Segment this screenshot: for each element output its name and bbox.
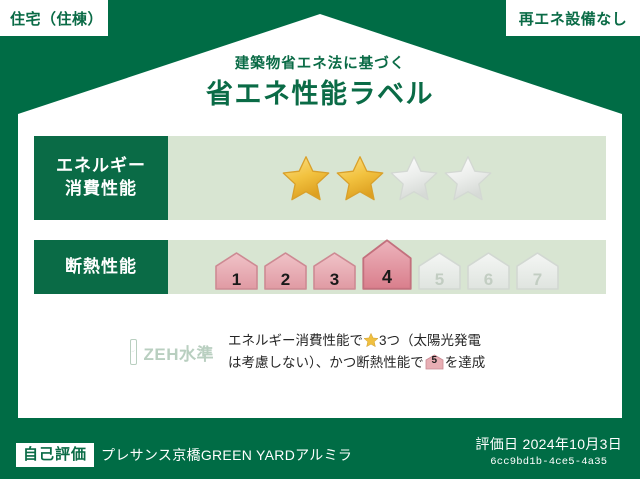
footer-left: 自己評価 プレサンス京橋GREEN YARDアルミラ — [16, 443, 352, 467]
insulation-performance-row: 断熱性能 1234567 — [34, 240, 606, 294]
star-filled-icon — [334, 152, 386, 204]
desc-part3: を達成 — [445, 355, 486, 370]
self-evaluation-badge: 自己評価 — [16, 443, 94, 467]
energy-consumption-header-line1: エネルギー — [56, 155, 146, 178]
energy-performance-label: 住宅（住棟） 再エネ設備なし 建築物省エネ法に基づく 省エネ性能ラベル エネルギ… — [0, 0, 640, 479]
insulation-badge-1: 1 — [214, 251, 259, 291]
energy-consumption-header-line2: 消費性能 — [65, 178, 137, 201]
insulation-performance-rating: 1234567 — [168, 240, 606, 294]
desc-part2: は考慮しない）、かつ断熱性能で — [228, 355, 424, 370]
evaluation-date: 評価日 2024年10月3日 — [475, 434, 622, 454]
energy-consumption-rating — [168, 136, 606, 220]
label-title-block: 建築物省エネ法に基づく 省エネ性能ラベル — [0, 56, 640, 112]
tag-building-type: 住宅（住棟） — [0, 0, 108, 36]
insulation-performance-header-line1: 断熱性能 — [65, 256, 137, 279]
insulation-badge-number: 4 — [361, 268, 413, 286]
star-empty-icon — [442, 152, 494, 204]
desc-star-count: 3つ（太陽光発電 — [379, 333, 481, 348]
page-title: 省エネ性能ラベル — [0, 78, 640, 112]
building-name: プレサンス京橋GREEN YARDアルミラ — [101, 445, 352, 465]
insulation-badge-number: 6 — [466, 271, 511, 288]
inline-house-badge-number: 5 — [425, 354, 444, 370]
desc-part1: エネルギー消費性能で — [228, 333, 363, 348]
house-badge-scale: 1234567 — [214, 240, 560, 294]
zeh-mark: ZEH水準 — [34, 339, 214, 365]
zeh-criteria-description: エネルギー消費性能で3つ（太陽光発電は考慮しない）、かつ断熱性能で5を達成 — [214, 330, 606, 375]
insulation-badge-4: 4 — [361, 238, 413, 291]
tag-building-type-label: 住宅（住棟） — [10, 8, 98, 29]
footer-right: 評価日 2024年10月3日 6cc9bd1b-4ce5-4a35 — [475, 434, 622, 468]
star-empty-icon — [388, 152, 440, 204]
inline-star-icon — [363, 332, 379, 348]
insulation-badge-7: 7 — [515, 251, 560, 291]
tag-renewable-energy: 再エネ設備なし — [506, 0, 640, 36]
insulation-badge-number: 1 — [214, 271, 259, 288]
star-filled-icon — [280, 152, 332, 204]
insulation-badge-number: 3 — [312, 271, 357, 288]
evaluation-id: 6cc9bd1b-4ce5-4a35 — [475, 456, 622, 468]
star-rating — [280, 152, 494, 204]
zeh-description-area: ZEH水準 エネルギー消費性能で3つ（太陽光発電は考慮しない）、かつ断熱性能で5… — [34, 330, 606, 375]
energy-consumption-header: エネルギー 消費性能 — [34, 136, 168, 220]
insulation-performance-header: 断熱性能 — [34, 240, 168, 294]
insulation-badge-6: 6 — [466, 251, 511, 291]
insulation-badge-number: 2 — [263, 271, 308, 288]
insulation-badge-5: 5 — [417, 251, 462, 291]
insulation-badge-3: 3 — [312, 251, 357, 291]
insulation-badge-number: 5 — [417, 271, 462, 288]
tag-renewable-energy-label: 再エネ設備なし — [519, 8, 628, 29]
energy-consumption-row: エネルギー 消費性能 — [34, 136, 606, 220]
inline-house-badge: 5 — [425, 354, 444, 370]
zeh-label: ZEH水準 — [144, 340, 215, 365]
insulation-badge-2: 2 — [263, 251, 308, 291]
insulation-badge-number: 7 — [515, 271, 560, 288]
title-subtitle: 建築物省エネ法に基づく — [0, 56, 640, 73]
zeh-chart-icon — [130, 339, 137, 365]
